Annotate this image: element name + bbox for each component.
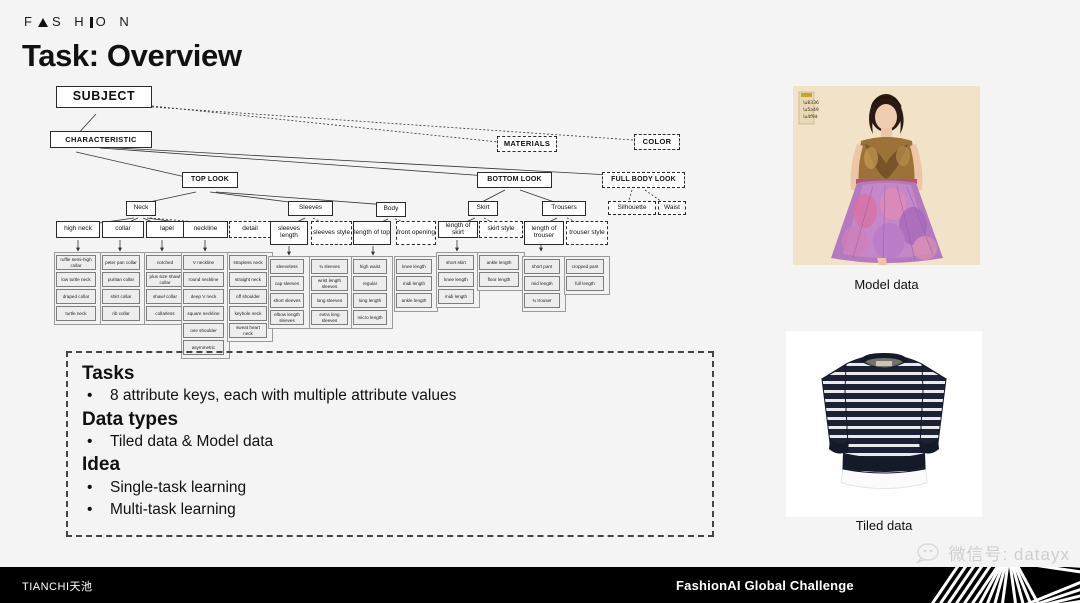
tasks-section-heading: Data types	[82, 409, 712, 431]
node-materials[interactable]: MATERIALS	[497, 136, 557, 152]
attribute-value-box[interactable]: ¾ trouser	[524, 293, 560, 308]
attribute-value-box[interactable]: long sleeves	[311, 293, 348, 308]
attribute-value-box[interactable]: round neckline	[183, 272, 224, 287]
attribute-value-box[interactable]: turtle neck	[56, 306, 96, 321]
tasks-bullet-item: •Multi-task learning	[82, 500, 712, 520]
attribute-value-box[interactable]: short sleeves	[270, 293, 304, 308]
node-color[interactable]: COLOR	[634, 134, 680, 150]
model-photo-art: \u8336\u5a49\u4f9d	[793, 86, 980, 265]
node-top-look[interactable]: TOP LOOK	[182, 172, 238, 188]
model-data-figure: \u8336\u5a49\u4f9d	[793, 86, 980, 308]
attribute-value-box[interactable]: sweat heart neck	[229, 323, 267, 338]
svg-text:\u8336: \u8336	[803, 100, 819, 106]
tasks-bullet-item: •Tiled data & Model data	[82, 432, 712, 452]
attribute-value-box[interactable]: cap sleeves	[270, 276, 304, 291]
attribute-key-skirt-style[interactable]: skirt style	[479, 221, 523, 238]
attribute-value-box[interactable]: knee length	[396, 259, 432, 274]
attribute-value-box[interactable]: puritan collar	[102, 272, 140, 287]
attribute-value-box[interactable]: plus size shawl collar	[146, 272, 184, 287]
tianchi-logo: TIANCHI天池	[22, 578, 93, 594]
tiled-data-caption: Tiled data	[786, 518, 982, 533]
tasks-section-heading: Idea	[82, 454, 712, 476]
bar-i-icon	[90, 17, 93, 28]
tasks-bullet-item: •8 attribute keys, each with multiple at…	[82, 386, 712, 406]
node-silhouette[interactable]: Silhouette	[608, 201, 656, 215]
attribute-value-box[interactable]: deep V neck	[183, 289, 224, 304]
slide-canvas: F S H O N Task: Overview	[0, 0, 1080, 603]
attribute-key-length-of-trouser[interactable]: length of trouser	[524, 221, 564, 245]
fashion-brand-logo: F S H O N	[24, 14, 134, 29]
bullet-glyph: •	[82, 500, 110, 520]
bullet-glyph: •	[82, 386, 110, 406]
attribute-value-box[interactable]: off shoulder	[229, 289, 267, 304]
attribute-value-box[interactable]: one shoulder	[183, 323, 224, 338]
attribute-value-box[interactable]: ¾ sleeves	[311, 259, 348, 274]
attribute-value-box[interactable]: ruffle semi-high collar	[56, 255, 96, 270]
attribute-value-box[interactable]: cropped pant	[566, 259, 604, 274]
tiled-data-figure: Tiled data	[786, 331, 982, 546]
node-waist[interactable]: Waist	[658, 201, 686, 215]
attribute-value-box[interactable]: mid length	[524, 276, 560, 291]
attribute-key-front-opening[interactable]: front opening	[396, 221, 436, 245]
attribute-value-box[interactable]: low turtle neck	[56, 272, 96, 287]
attribute-value-box[interactable]: ankle length	[479, 255, 519, 270]
attribute-value-box[interactable]: wrist length sleeves	[311, 276, 348, 291]
attribute-key-sleeves-length[interactable]: sleeves length	[270, 221, 308, 245]
attribute-value-box[interactable]: ankle length	[396, 293, 432, 308]
bullet-glyph: •	[82, 432, 110, 452]
brand-letters-on: O N	[96, 14, 134, 29]
node-characteristic[interactable]: CHARACTERISTIC	[50, 131, 152, 148]
model-data-caption: Model data	[793, 277, 980, 292]
brand-letter-f: F	[24, 14, 37, 29]
attribute-value-box[interactable]: draped collar	[56, 289, 96, 304]
attribute-value-box[interactable]: long length	[353, 293, 387, 308]
attribute-value-box[interactable]: sleeveless	[270, 259, 304, 274]
tasks-bullet-item: •Single-task learning	[82, 478, 712, 498]
tiled-photo-art	[786, 331, 982, 517]
svg-text:\u5a49: \u5a49	[803, 107, 819, 113]
node-bottom-look[interactable]: BOTTOM LOOK	[477, 172, 552, 188]
node-body[interactable]: Body	[376, 202, 406, 217]
node-neck[interactable]: Neck	[126, 201, 156, 216]
attribute-value-box[interactable]: midi length	[396, 276, 432, 291]
brand-letters-sh: S H	[52, 14, 89, 29]
footer-stripe-pattern	[920, 567, 1080, 603]
attribute-key-trouser-style[interactable]: trouser style	[566, 221, 608, 245]
attribute-key-high-neck[interactable]: high neck	[56, 221, 100, 238]
attribute-value-box[interactable]: regular	[353, 276, 387, 291]
attribute-key-length-of-skirt[interactable]: length of skirt	[438, 221, 478, 238]
attribute-value-box[interactable]: rib collar	[102, 306, 140, 321]
attribute-key-detail[interactable]: detail	[229, 221, 271, 238]
attribute-value-box[interactable]: short skirt	[438, 255, 474, 270]
bullet-glyph: •	[82, 478, 110, 498]
attribute-value-box[interactable]: keyhole neck	[229, 306, 267, 321]
attribute-taxonomy-diagram: SUBJECT CHARACTERISTIC MATERIALS COLOR T…	[0, 76, 740, 346]
attribute-key-length-of-top[interactable]: length of top	[353, 221, 391, 245]
attribute-value-box[interactable]: floor length	[479, 272, 519, 287]
tasks-summary-box: Tasks•8 attribute keys, each with multip…	[66, 351, 714, 537]
attribute-value-box[interactable]: square neckline	[183, 306, 224, 321]
attribute-value-box[interactable]: high waist	[353, 259, 387, 274]
attribute-key-sleeves-style[interactable]: sleeves style	[311, 221, 352, 245]
footer-title: FashionAI Global Challenge	[676, 578, 854, 593]
attribute-value-box[interactable]: shirt collar	[102, 289, 140, 304]
tasks-bullet-text: 8 attribute keys, each with multiple att…	[110, 386, 456, 406]
tasks-bullet-text: Multi-task learning	[110, 500, 236, 520]
attribute-value-box[interactable]: micro length	[353, 310, 387, 325]
attribute-value-box[interactable]: elbow length sleeves	[270, 310, 304, 325]
tiled-data-image	[786, 331, 982, 517]
node-full-body-look[interactable]: FULL BODY LOOK	[602, 172, 685, 188]
attribute-key-collar[interactable]: collar	[102, 221, 144, 238]
attribute-value-box[interactable]: extra long sleeves	[311, 310, 348, 325]
tasks-bullet-text: Single-task learning	[110, 478, 246, 498]
attribute-value-box[interactable]: knee length	[438, 272, 474, 287]
attribute-value-box[interactable]: peter pan collar	[102, 255, 140, 270]
model-data-image: \u8336\u5a49\u4f9d	[793, 86, 980, 265]
attribute-value-box[interactable]: shawl collar	[146, 289, 184, 304]
attribute-value-box[interactable]: collarless	[146, 306, 184, 321]
attribute-value-box[interactable]: notched	[146, 255, 184, 270]
attribute-key-lapel[interactable]: lapel	[146, 221, 188, 238]
attribute-key-neckline[interactable]: neckline	[183, 221, 228, 238]
attribute-value-box[interactable]: straight neck	[229, 272, 267, 287]
attribute-value-box[interactable]: midi length	[438, 289, 474, 304]
tasks-bullet-text: Tiled data & Model data	[110, 432, 273, 452]
node-trousers[interactable]: Trousers	[542, 201, 586, 216]
page-title: Task: Overview	[22, 38, 242, 74]
attribute-value-box[interactable]: V neckline	[183, 255, 224, 270]
attribute-value-box[interactable]: short pant	[524, 259, 560, 274]
tasks-section-heading: Tasks	[82, 363, 712, 385]
svg-text:\u4f9d: \u4f9d	[803, 114, 818, 120]
node-subject[interactable]: SUBJECT	[56, 86, 152, 108]
attribute-value-box[interactable]: strapless neck	[229, 255, 267, 270]
attribute-value-box[interactable]: full length	[566, 276, 604, 291]
node-sleeves[interactable]: Sleeves	[288, 201, 333, 216]
node-skirt[interactable]: Skirt	[468, 201, 498, 216]
slide-footer: TIANCHI天池 FashionAI Global Challenge	[0, 567, 1080, 603]
triangle-a-icon	[38, 18, 48, 27]
